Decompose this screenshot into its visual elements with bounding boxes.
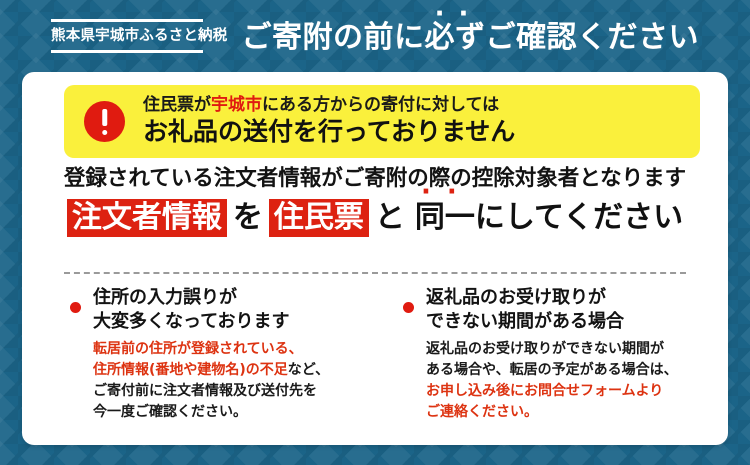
note-desc-line: 返礼品のお受け取りができない期間が [426, 339, 720, 360]
note-desc-text: ご寄付前に注文者情報及び送付先を [93, 383, 317, 399]
middle-separator-2: と [369, 199, 411, 237]
headline-after: ご確認ください [485, 20, 699, 55]
kicker-rule-bottom [51, 50, 203, 53]
note-desc-line: お申し込み後にお問合せフォームより [426, 381, 720, 402]
alert-line1-part1: 住民票が [143, 95, 211, 115]
note-desc-text: ご連絡ください。 [426, 404, 538, 420]
headline-emphasis: 必ず [424, 20, 485, 55]
middle-line-1: 登録されている注文者情報がご寄附の際の控除対象者となります [22, 167, 728, 192]
note-desc-line: 今一度ご確認ください。 [93, 402, 367, 423]
note-desc-text: ある場合や、転居の予定がある場合は、 [426, 362, 678, 378]
note-description: 返礼品のお受け取りができない期間が ある場合や、転居の予定がある場合は、 お申し… [426, 339, 720, 423]
note-body: 返礼品のお受け取りが できない期間がある場合 返礼品のお受け取りができない期間が… [426, 286, 720, 423]
highlight-orderer-info: 注文者情報 [67, 199, 227, 238]
note-column-address-error: 住所の入力誤りが 大変多くなっております 転居前の住所が登録されている、 住所情… [22, 286, 375, 423]
middle-line-2: 注文者情報を住民票と同一にしてください [22, 199, 728, 238]
exclamation-circle-icon [84, 101, 125, 142]
kicker-label: 熊本県宇城市ふるさと納税 [51, 22, 227, 50]
highlight-residence-certificate: 住民票 [269, 199, 369, 238]
note-description: 転居前の住所が登録されている、 住所情報(番地や建物名)の不足など、 ご寄付前に… [93, 339, 367, 423]
note-title-line-1: 返礼品のお受け取りが [426, 286, 720, 310]
alert-city-name: 宇城市 [211, 95, 262, 115]
note-desc-text: 住所情報(番地や建物名)の不足 [93, 362, 288, 378]
middle-emphasis-same: 同一 [411, 199, 475, 237]
page-title: ご寄附の前に必ずご確認ください [241, 19, 699, 53]
note-title-line-1: 住所の入力誤りが [93, 286, 367, 310]
note-desc-text: お申し込み後にお問合せフォームより [426, 383, 663, 399]
alert-line-2: お礼品の送付を行っておりません [143, 117, 515, 147]
note-desc-text: 今一度ご確認ください。 [93, 404, 247, 420]
alert-line1-part2: にある方からの寄付に対しては [262, 95, 499, 115]
note-desc-line: ご連絡ください。 [426, 402, 720, 423]
note-body: 住所の入力誤りが 大変多くなっております 転居前の住所が登録されている、 住所情… [93, 286, 367, 423]
red-dot-bullet [70, 302, 81, 313]
note-column-unavailable-period: 返礼品のお受け取りが できない期間がある場合 返礼品のお受け取りができない期間が… [375, 286, 728, 423]
dashed-divider [64, 272, 686, 274]
middle-separator-1: を [227, 199, 269, 237]
note-desc-line: 転居前の住所が登録されている、 [93, 339, 367, 360]
alert-line-1: 住民票が宇城市にある方からの寄付に対しては [143, 96, 515, 116]
note-desc-line: ある場合や、転居の予定がある場合は、 [426, 360, 720, 381]
note-desc-text: 転居前の住所が登録されている、 [93, 341, 303, 357]
headline-before: ご寄附の前に [241, 20, 424, 55]
notice-banner: 熊本県宇城市ふるさと納税 ご寄附の前に必ずご確認ください 住民票が宇城市にある方… [0, 0, 750, 465]
alert-text: 住民票が宇城市にある方からの寄付に対しては お礼品の送付を行っておりません [143, 96, 515, 147]
note-title-line-2: できない期間がある場合 [426, 310, 720, 334]
alert-box: 住民票が宇城市にある方からの寄付に対しては お礼品の送付を行っておりません [64, 85, 700, 158]
note-desc-text: 返礼品のお受け取りができない期間が [426, 341, 664, 357]
note-desc-tail: など、 [288, 362, 329, 378]
banner-header: 熊本県宇城市ふるさと納税 ご寄附の前に必ずご確認ください [0, 0, 750, 72]
middle-tail: にしてください [475, 199, 683, 237]
municipality-kicker: 熊本県宇城市ふるさと納税 [51, 15, 227, 57]
red-dot-bullet [403, 302, 414, 313]
note-desc-line: ご寄付前に注文者情報及び送付先を [93, 381, 367, 402]
notes-columns: 住所の入力誤りが 大変多くなっております 転居前の住所が登録されている、 住所情… [22, 286, 728, 423]
note-desc-line: 住所情報(番地や建物名)の不足など、 [93, 360, 367, 381]
middle-message: 登録されている注文者情報がご寄附の際の控除対象者となります 注文者情報を住民票と… [22, 167, 728, 237]
content-card: 住民票が宇城市にある方からの寄付に対しては お礼品の送付を行っておりません 登録… [22, 72, 728, 445]
note-title-line-2: 大変多くなっております [93, 310, 367, 334]
